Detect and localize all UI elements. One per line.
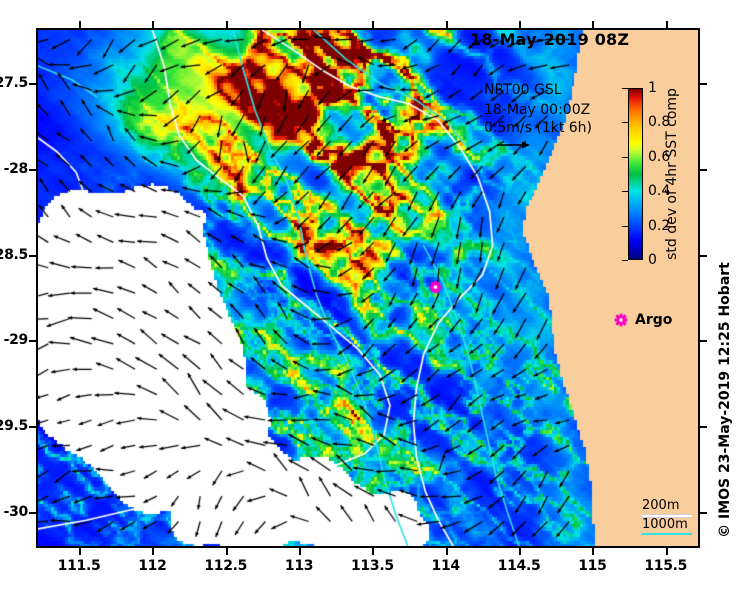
x-tick	[592, 548, 594, 555]
y-tick-right	[700, 426, 707, 428]
x-tick-top	[299, 21, 301, 28]
colorbar-tick-label: 0.2	[648, 218, 670, 234]
x-tick	[299, 548, 301, 555]
colorbar-tick-label: 1	[648, 80, 657, 96]
colorbar-tick	[622, 226, 628, 227]
x-tick	[372, 548, 374, 555]
y-tick	[29, 340, 36, 342]
x-tick-label: 114	[432, 558, 460, 574]
colorbar-tick-label: 0.8	[648, 114, 670, 130]
x-tick-label: 115	[578, 558, 606, 574]
annotation-valid-time: 18-May 00:00Z	[484, 102, 590, 118]
y-tick-label: -27.5	[0, 75, 28, 91]
colorbar-tick-label: 0.6	[648, 149, 670, 165]
sst-stddev-heatmap	[38, 30, 698, 546]
x-tick-label: 115.5	[644, 558, 687, 574]
argo-legend: Argo	[614, 312, 672, 328]
figure-root: 18-May-2019 08Z NRT00 GSL 18-May 00:00Z …	[0, 0, 739, 592]
colorbar-tick	[622, 88, 628, 89]
x-tick-top	[519, 21, 521, 28]
colorbar-tick	[622, 122, 628, 123]
colorbar-tick-label: 0	[648, 252, 657, 268]
colorbar-gradient	[628, 88, 643, 260]
argo-legend-label: Argo	[635, 312, 672, 328]
y-tick-label: -28	[4, 161, 28, 177]
x-tick-label: 112.5	[204, 558, 247, 574]
x-tick-label: 114.5	[498, 558, 541, 574]
x-tick-top	[226, 21, 228, 28]
x-tick-top	[79, 21, 81, 28]
y-tick-right	[700, 169, 707, 171]
bathymetry-swatch-1000m	[642, 533, 692, 535]
bathymetry-legend-item-200m: 200m	[642, 498, 692, 517]
bathymetry-label-200m: 200m	[642, 498, 692, 513]
y-tick-right	[700, 255, 707, 257]
x-tick	[79, 548, 81, 555]
x-tick-top	[372, 21, 374, 28]
x-tick-top	[446, 21, 448, 28]
y-tick	[29, 83, 36, 85]
y-tick	[29, 255, 36, 257]
y-tick-label: -29.5	[0, 418, 28, 434]
colorbar-tick	[622, 157, 628, 158]
annotation-source: NRT00 GSL	[484, 82, 562, 98]
annotation-vector-scale: 0.5m/s (1kt 6h)	[484, 120, 592, 136]
y-tick-right	[700, 83, 707, 85]
bathymetry-legend-item-1000m: 1000m	[642, 517, 692, 536]
argo-asterisk-icon	[614, 313, 628, 327]
credit-text: © IMOS 23-May-2019 12:25 Hobart	[717, 262, 733, 538]
x-tick-top	[592, 21, 594, 28]
x-tick-label: 113	[285, 558, 313, 574]
y-tick-label: -29	[4, 332, 28, 348]
y-tick-label: -28.5	[0, 247, 28, 263]
x-tick-top	[152, 21, 154, 28]
bathymetry-legend: 200m 1000m	[642, 498, 692, 536]
x-tick	[666, 548, 668, 555]
bathymetry-label-1000m: 1000m	[642, 517, 692, 532]
colorbar-tick-label: 0.4	[648, 183, 670, 199]
x-tick	[446, 548, 448, 555]
x-tick	[226, 548, 228, 555]
y-tick	[29, 169, 36, 171]
x-tick	[519, 548, 521, 555]
title-date: 18-May-2019 08Z	[470, 30, 629, 49]
x-tick-label: 111.5	[58, 558, 101, 574]
y-tick-right	[700, 340, 707, 342]
colorbar-tick	[622, 191, 628, 192]
x-tick	[152, 548, 154, 555]
y-tick-right	[700, 512, 707, 514]
right-arrow-icon	[496, 140, 530, 150]
y-tick	[29, 426, 36, 428]
y-tick-label: -30	[4, 504, 28, 520]
x-tick-label: 112	[138, 558, 166, 574]
colorbar-tick	[622, 260, 628, 261]
x-tick-top	[666, 21, 668, 28]
y-tick	[29, 512, 36, 514]
x-tick-label: 113.5	[351, 558, 394, 574]
map-plot-frame	[36, 28, 700, 548]
